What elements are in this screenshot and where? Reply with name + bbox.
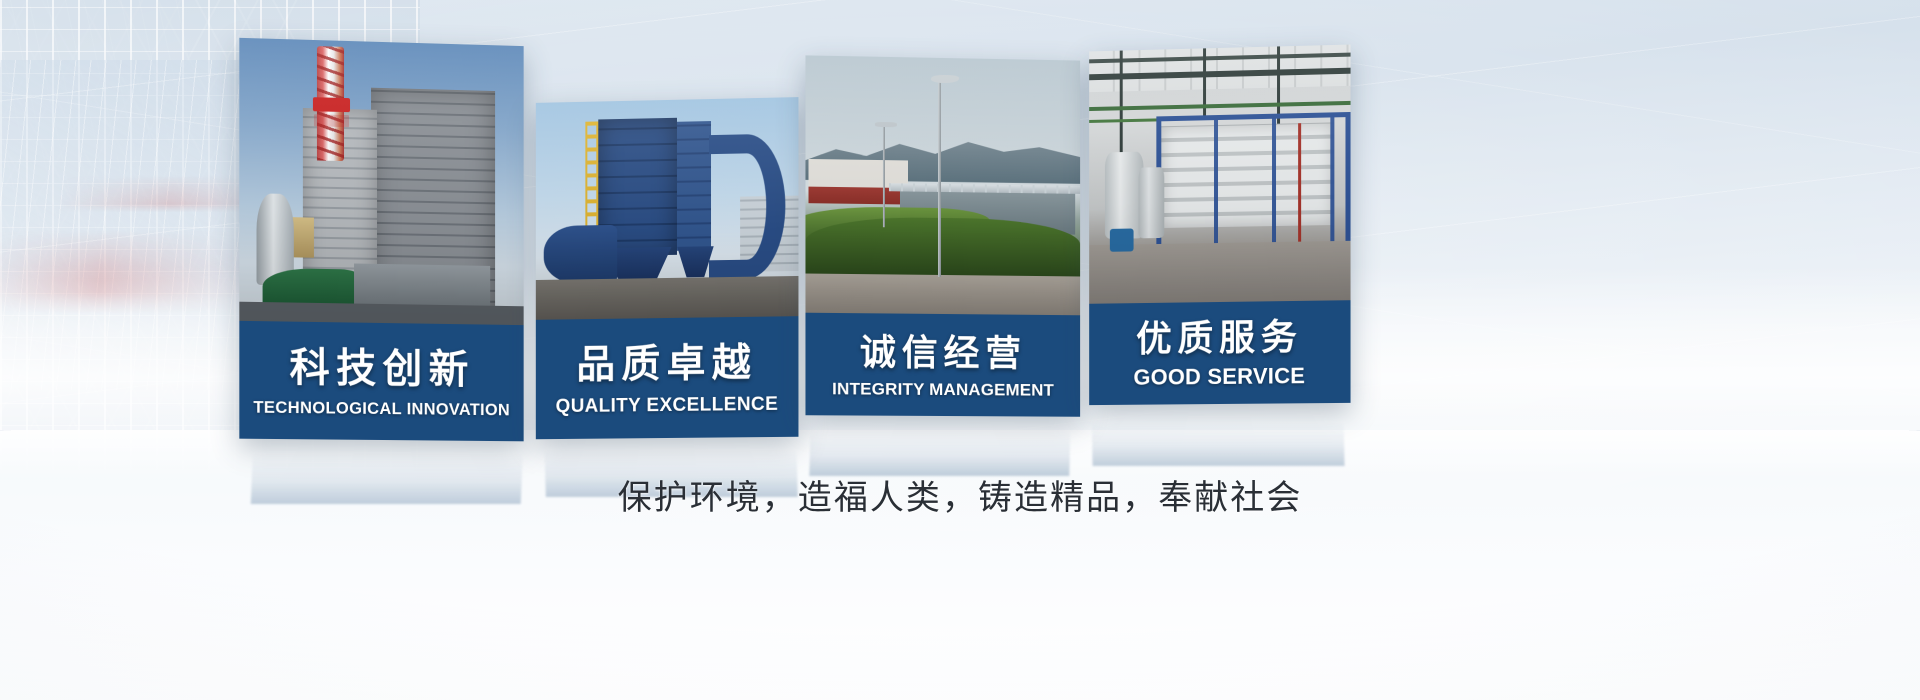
panel-quality-excellence[interactable]: 品质卓越 QUALITY EXCELLENCE (536, 97, 799, 439)
panel-1-photo (239, 38, 523, 329)
panel-reflection-4 (1091, 410, 1344, 466)
panel-good-service[interactable]: 优质服务 GOOD SERVICE (1089, 45, 1350, 406)
panel-1-title-zh: 科技创新 (289, 348, 474, 390)
background-building-right-overlay (0, 60, 250, 390)
background-building-left-overlay (0, 0, 190, 300)
panel-4-title-zh: 优质服务 (1136, 319, 1303, 357)
panel-2-caption: 品质卓越 QUALITY EXCELLENCE (536, 316, 799, 439)
panel-3-caption: 诚信经营 INTEGRITY MANAGEMENT (805, 313, 1080, 417)
panel-reflection-3 (809, 418, 1070, 476)
panel-technological-innovation[interactable]: 科技创新 TECHNOLOGICAL INNOVATION (239, 38, 523, 441)
panel-2-title-zh: 品质卓越 (576, 344, 757, 385)
panel-3-title-en: INTEGRITY MANAGEMENT (832, 380, 1054, 398)
panel-1-caption: 科技创新 TECHNOLOGICAL INNOVATION (239, 321, 523, 441)
panel-4-caption: 优质服务 GOOD SERVICE (1089, 300, 1350, 405)
panel-4-title-en: GOOD SERVICE (1133, 365, 1305, 389)
panel-integrity-management[interactable]: 诚信经营 INTEGRITY MANAGEMENT (805, 55, 1080, 416)
panel-3-title-zh: 诚信经营 (860, 334, 1027, 371)
panel-2-title-en: QUALITY EXCELLENCE (556, 395, 779, 416)
panel-2-photo (536, 97, 799, 324)
panel-4-photo (1089, 45, 1350, 306)
tagline: 保护环境，造福人类，铸造精品，奉献社会 (0, 470, 1920, 519)
banner-stage: 科技创新 TECHNOLOGICAL INNOVATION 品质卓越 QUALI… (0, 0, 1920, 700)
panel-1-title-en: TECHNOLOGICAL INNOVATION (253, 400, 510, 419)
background-red-accent (0, 230, 280, 350)
panel-3-photo (805, 55, 1080, 317)
